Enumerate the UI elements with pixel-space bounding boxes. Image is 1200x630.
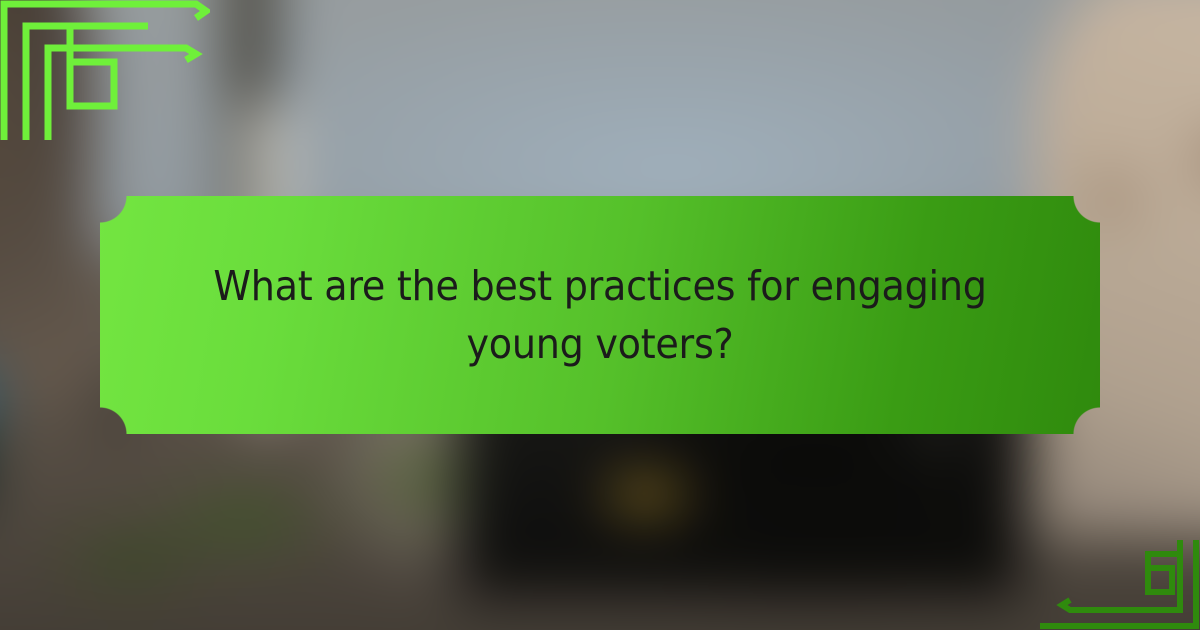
background-building-left-detail <box>0 0 60 310</box>
headline-banner: What are the best practices for engaging… <box>100 196 1100 434</box>
social-card: What are the best practices for engaging… <box>0 0 1200 630</box>
headline-text: What are the best practices for engaging… <box>135 257 1065 373</box>
background-license-plate <box>611 480 682 508</box>
background-window-right-a <box>1183 115 1200 201</box>
background-shrub-c <box>38 515 222 601</box>
